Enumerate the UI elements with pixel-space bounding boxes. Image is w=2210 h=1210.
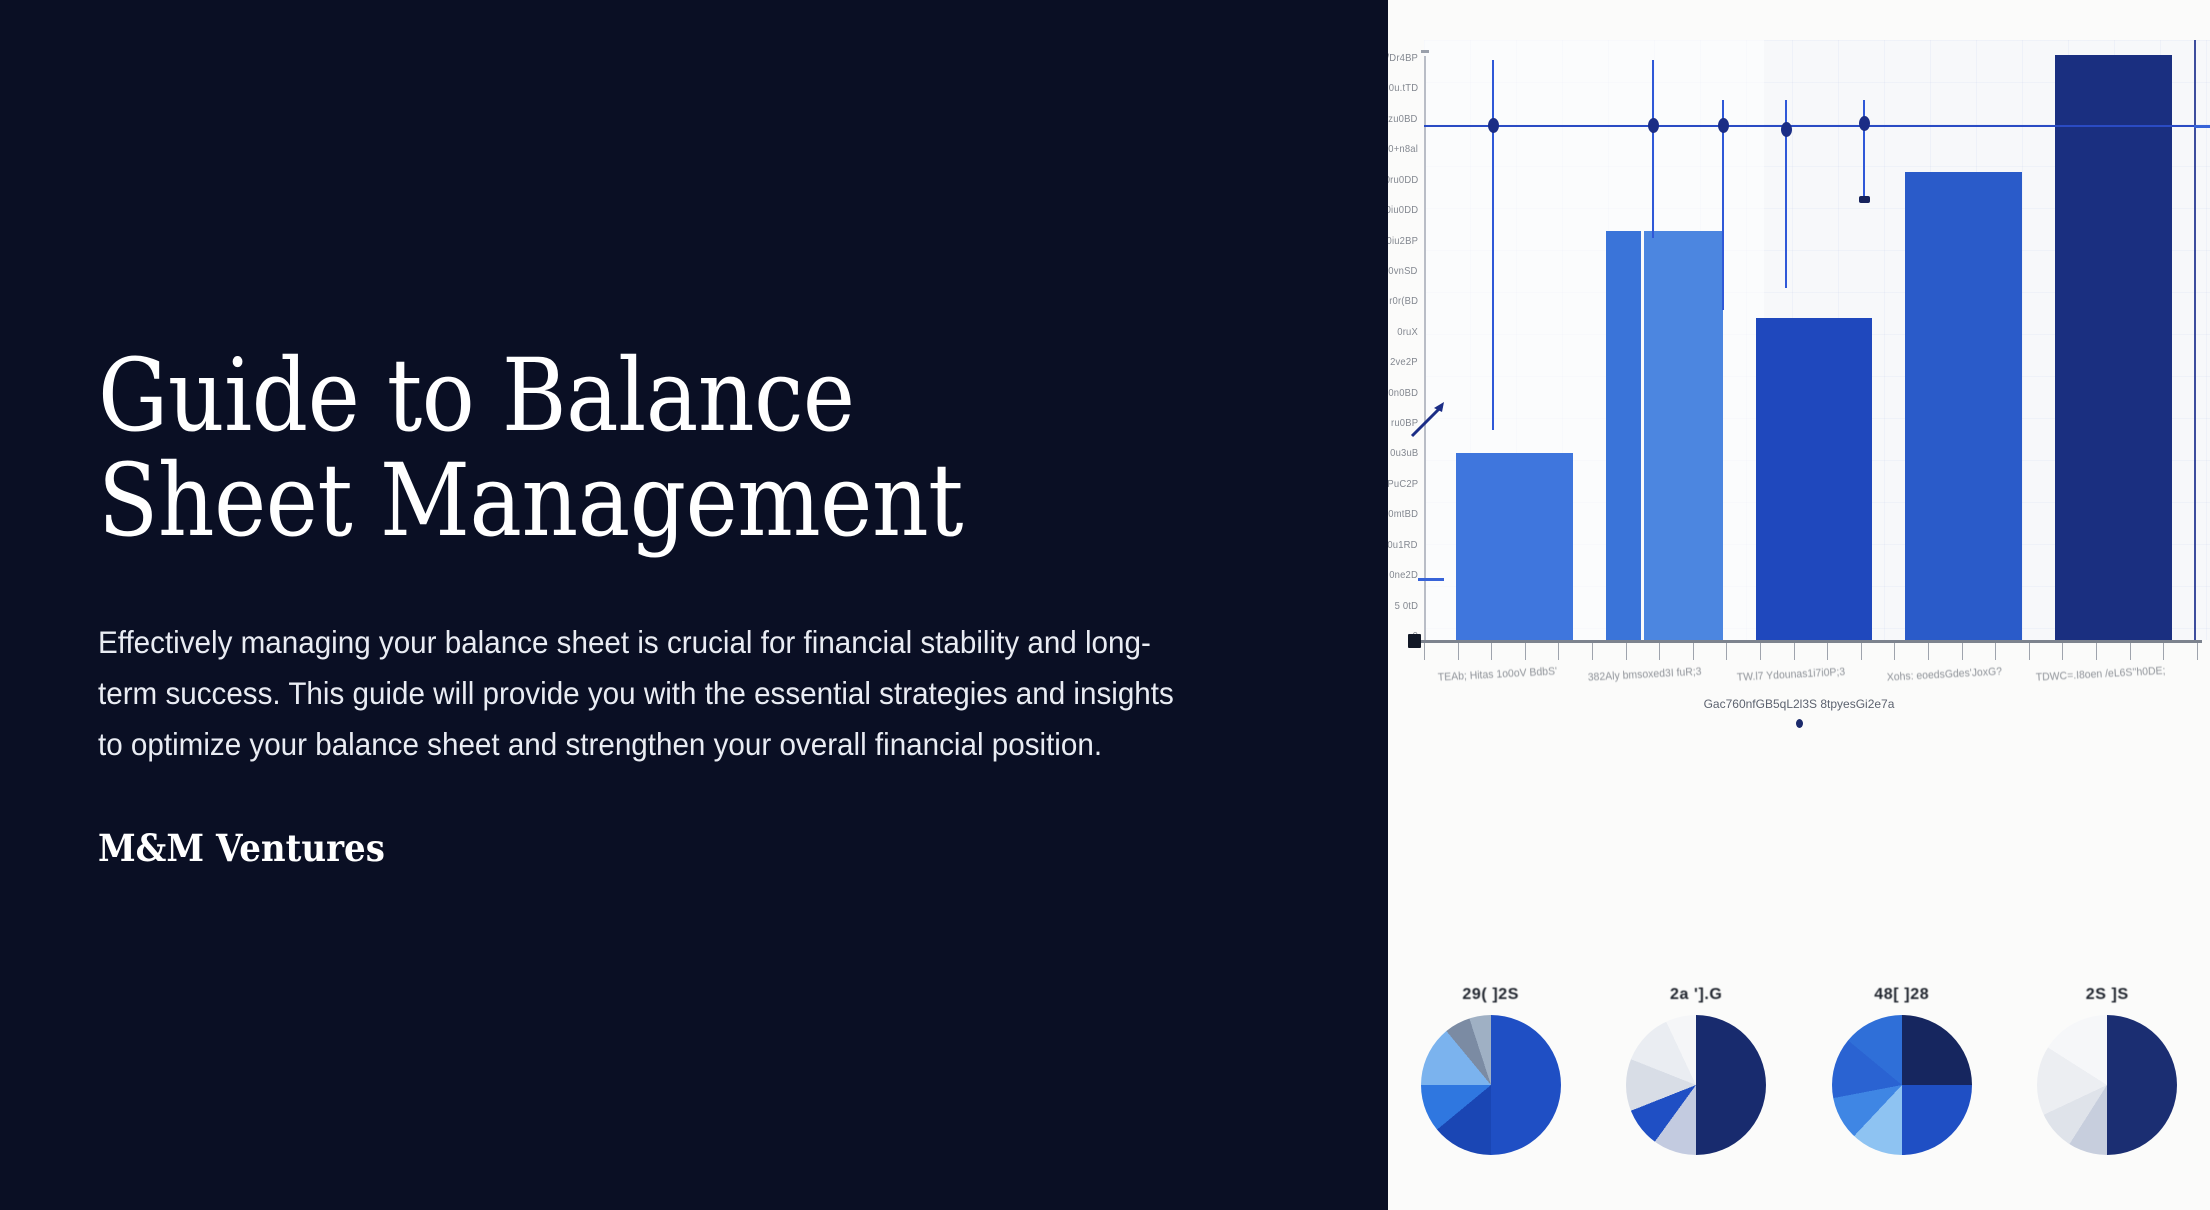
pie-chart-label: 48[ ]28 — [1817, 985, 1987, 1005]
x-axis-tick — [1525, 643, 1526, 660]
x-axis-tick — [1894, 643, 1895, 660]
x-axis-tick — [1928, 643, 1929, 660]
annotation-arrow-icon — [1408, 400, 1448, 440]
x-axis-tick-label: TDWC=.I8oen /eL6S''h0DE; — [2036, 664, 2179, 683]
x-axis-tick — [1726, 643, 1727, 660]
data-point-marker[interactable] — [1648, 118, 1659, 133]
x-axis-tick — [1962, 643, 1963, 660]
x-axis-tick — [2130, 643, 2131, 660]
x-axis-tick — [2029, 643, 2030, 660]
data-point-marker[interactable] — [1781, 122, 1792, 137]
x-axis-tick — [2062, 643, 2063, 660]
x-axis-tick — [1558, 643, 1559, 660]
chart-panel: /Dr4BPi0u.tTD0zu0BD0+n8al0ru0DD0iu0DD0iu… — [1388, 0, 2210, 1210]
bar-fill — [1456, 453, 1573, 640]
bar-fill — [1905, 172, 2022, 640]
marker-stem — [1863, 100, 1865, 200]
reference-line-tail — [2194, 125, 2210, 128]
bar[interactable] — [1606, 231, 1723, 641]
pie-chart[interactable] — [2037, 1015, 2177, 1155]
bar[interactable] — [2055, 55, 2172, 640]
brand-name: M&M Ventures — [98, 830, 1184, 867]
data-point-marker[interactable] — [1488, 118, 1499, 133]
x-axis-tick — [1861, 643, 1862, 660]
pie-chart-label: 2S ]S — [2022, 985, 2192, 1005]
x-axis-tick — [1794, 643, 1795, 660]
bar[interactable] — [1905, 172, 2022, 640]
value-dash-left — [1418, 578, 1444, 581]
pie-chart[interactable] — [1832, 1015, 1972, 1155]
x-axis-tick — [2163, 643, 2164, 660]
page-subcopy: Effectively managing your balance sheet … — [98, 617, 1188, 770]
x-axis-tick — [2197, 643, 2198, 660]
pie-chart[interactable] — [1626, 1015, 1766, 1155]
reference-line — [1424, 125, 2210, 127]
right-edge-rule — [2194, 40, 2196, 640]
x-axis-tick — [1827, 643, 1828, 660]
x-axis-tick — [1693, 643, 1694, 660]
left-text-content: Guide to Balance Sheet Management Effect… — [98, 0, 1278, 1210]
pie-chart-cell[interactable]: 48[ ]28 — [1817, 985, 1987, 1155]
data-point-square-marker[interactable] — [1859, 196, 1870, 203]
pie-chart-cell[interactable]: 2S ]S — [2022, 985, 2192, 1155]
x-axis-ticks — [1412, 643, 2202, 661]
chart-surface: /Dr4BPi0u.tTD0zu0BD0+n8al0ru0DD0iu0DD0iu… — [1388, 0, 2210, 1210]
x-axis-tick — [1592, 643, 1593, 660]
x-axis-tick-label: TEAb; Hitas 1o0oV BdbS' — [1438, 664, 1581, 683]
data-point-marker[interactable] — [1859, 116, 1870, 131]
bar-fill — [1756, 318, 1873, 640]
left-text-panel: Guide to Balance Sheet Management Effect… — [0, 0, 1388, 1210]
x-axis-tick — [1659, 643, 1660, 660]
x-axis-tick — [1458, 643, 1459, 660]
marker-stem — [1492, 60, 1494, 430]
x-axis-tick-label: Xohs: eoedsGdes'JoxG? — [1886, 664, 2029, 683]
bar-segment-stripe — [1606, 231, 1644, 641]
bar[interactable] — [1756, 318, 1873, 640]
data-point-marker[interactable] — [1718, 118, 1729, 133]
x-axis-title: Gac760nfGB5qL2l3S 8tpyesGi2e7a — [1388, 697, 2210, 711]
pie-chart[interactable] — [1421, 1015, 1561, 1155]
slide-root: Guide to Balance Sheet Management Effect… — [0, 0, 2210, 1210]
marker-stem — [1652, 60, 1654, 238]
bar-fill — [2055, 55, 2172, 640]
x-axis-tick-label: TW.l7 Ydounas1i7i0P;3 — [1737, 664, 1880, 683]
pie-chart-label: 2a '].G — [1611, 985, 1781, 1005]
page-title: Guide to Balance Sheet Management — [98, 343, 1075, 553]
x-axis-tick — [1760, 643, 1761, 660]
x-axis-center-dot — [1796, 719, 1803, 728]
bar-series — [1388, 0, 2210, 660]
x-axis-tick — [1491, 643, 1492, 660]
pie-chart-cell[interactable]: 29( ]2S — [1406, 985, 1576, 1155]
x-axis-tick — [1626, 643, 1627, 660]
x-axis-tick — [2096, 643, 2097, 660]
x-axis-tick — [1424, 643, 1425, 660]
bar[interactable] — [1456, 453, 1573, 640]
pie-chart-label: 29( ]2S — [1406, 985, 1576, 1005]
pie-chart-row: 29( ]2S2a '].G48[ ]282S ]S — [1388, 985, 2210, 1210]
pie-chart-cell[interactable]: 2a '].G — [1611, 985, 1781, 1155]
x-axis-tick-label: 382Aly bmsoxed3I fuR;3 — [1587, 664, 1730, 683]
x-axis-tick — [1995, 643, 1996, 660]
